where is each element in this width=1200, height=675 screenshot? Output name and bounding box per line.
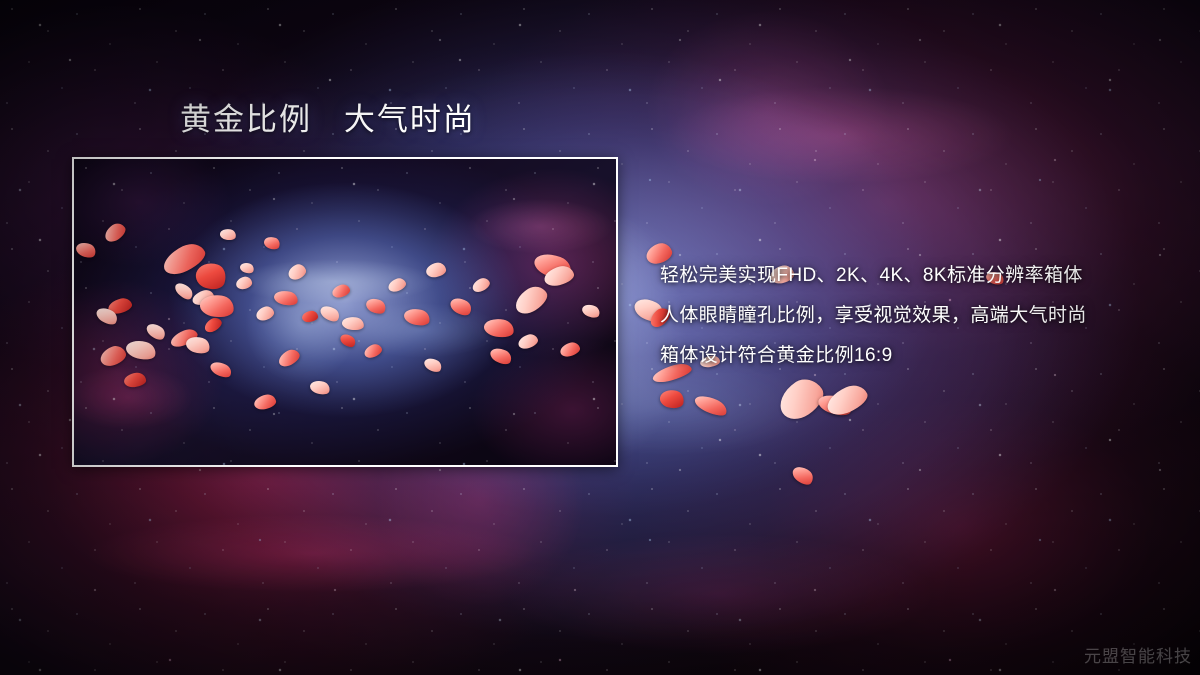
inner-nebula-filaments — [74, 159, 616, 465]
body-text-block: 轻松完美实现FHD、2K、4K、8K标准分辨率箱体 人体眼睛瞳孔比例，享受视觉效… — [660, 256, 1180, 376]
image-content — [74, 159, 616, 465]
nebula-petals-image — [72, 157, 618, 467]
body-line-3: 箱体设计符合黄金比例16:9 — [660, 336, 1180, 376]
body-line-2: 人体眼睛瞳孔比例，享受视觉效果，高端大气时尚 — [660, 296, 1180, 336]
body-line-1: 轻松完美实现FHD、2K、4K、8K标准分辨率箱体 — [660, 256, 1180, 296]
watermark: 元盟智能科技 — [1084, 642, 1192, 667]
presentation-slide: 黄金比例 大气时尚 — [0, 0, 1200, 675]
page-title: 黄金比例 大气时尚 — [180, 101, 476, 140]
